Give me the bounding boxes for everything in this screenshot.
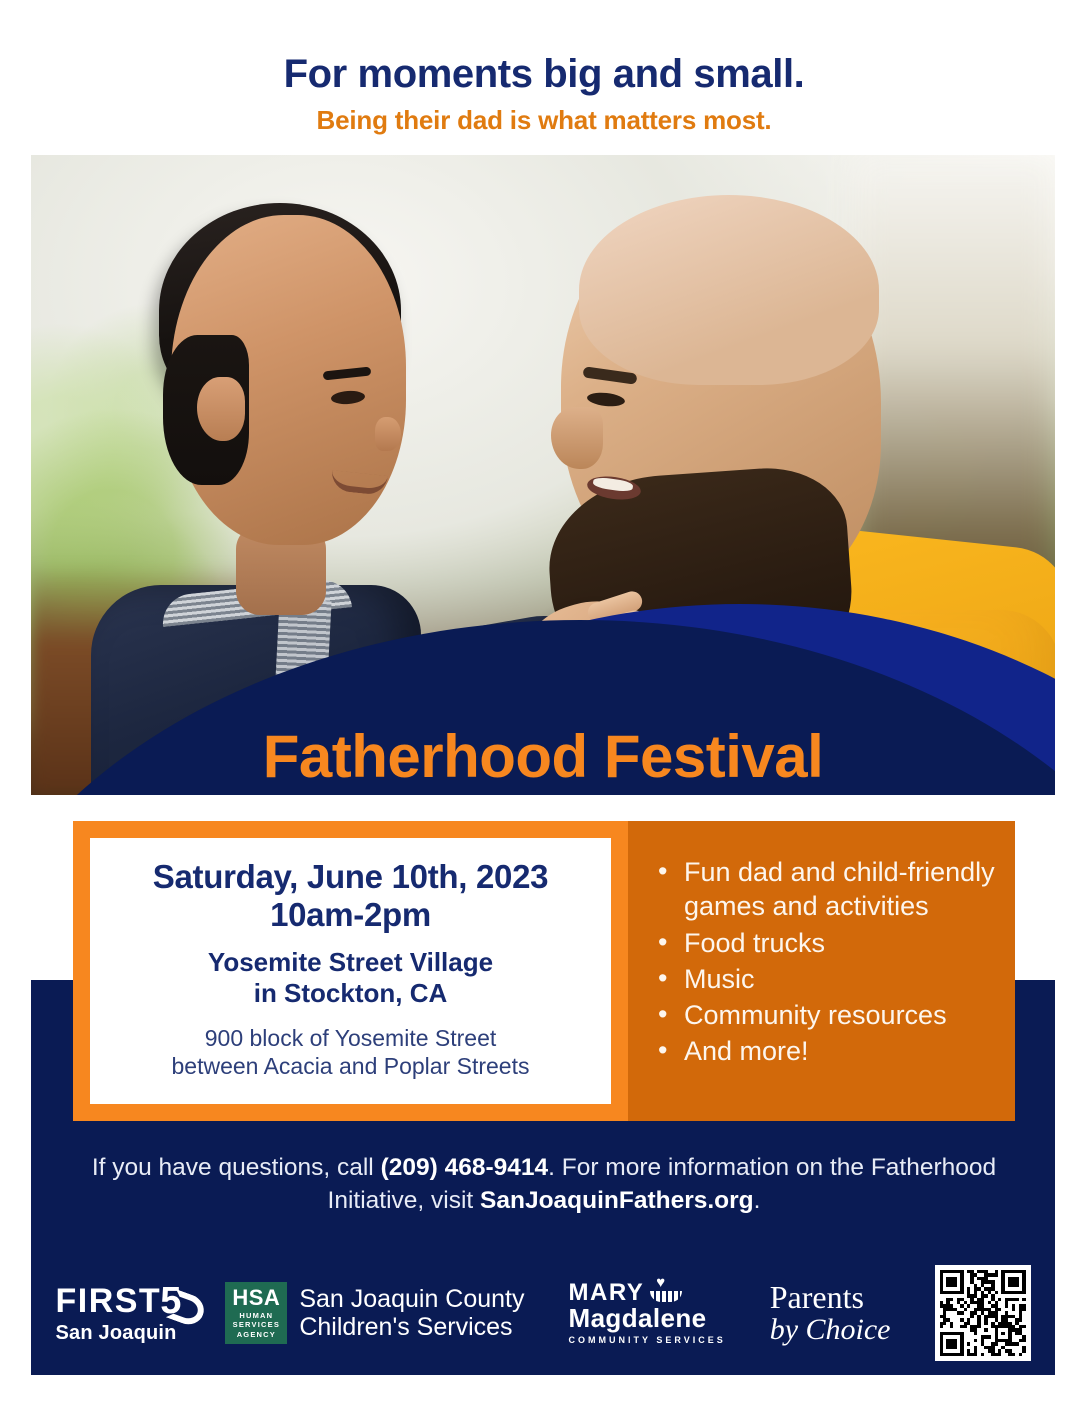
headline-block: For moments big and small. Being their d… — [0, 52, 1088, 135]
list-item: Food trucks — [654, 926, 997, 960]
features-card: Fun dad and child-friendly games and act… — [628, 821, 1015, 1121]
page-title: Fatherhood Festival — [31, 722, 1055, 791]
info-row: Saturday, June 10th, 2023 10am-2pm Yosem… — [73, 821, 1015, 1121]
event-time: 10am-2pm — [270, 896, 431, 934]
qr-code-grid — [940, 1270, 1026, 1356]
father-scalp — [579, 195, 879, 385]
heart-hand-icon — [650, 1283, 684, 1305]
hsa-abbr: HSA — [232, 1287, 280, 1309]
headline-secondary: Being their dad is what matters most. — [0, 106, 1088, 135]
hsa-text-line2: Children's Services — [299, 1313, 524, 1342]
contact-text: If you have questions, call (209) 468-94… — [90, 1152, 998, 1217]
list-item: Fun dad and child-friendly games and act… — [654, 855, 997, 924]
mary-word: MARY — [569, 1281, 645, 1305]
logo-row: FIRST 5 San Joaquin HSA HUMAN SERVICES A… — [31, 1258, 1055, 1368]
by-choice-word: by Choice — [770, 1314, 891, 1346]
headline-primary: For moments big and small. — [0, 52, 1088, 96]
list-item: And more! — [654, 1034, 997, 1068]
contact-website[interactable]: SanJoaquinFathers.org — [480, 1187, 754, 1214]
hsa-small-line2: SERVICES — [233, 1320, 280, 1329]
address-line-2: between Acacia and Poplar Streets — [171, 1052, 529, 1080]
list-item: Music — [654, 962, 997, 996]
hsa-small-line3: AGENCY — [233, 1330, 280, 1339]
hsa-mark-icon: HSA HUMAN SERVICES AGENCY — [225, 1282, 287, 1344]
hsa-text: San Joaquin County Children's Services — [299, 1285, 524, 1342]
boy-ear — [197, 377, 245, 441]
fatherhood-festival-flyer: For moments big and small. Being their d… — [0, 0, 1088, 1408]
first5-logo: FIRST 5 San Joaquin — [55, 1282, 181, 1345]
date-location-inner: Saturday, June 10th, 2023 10am-2pm Yosem… — [90, 838, 611, 1104]
qr-code-icon[interactable] — [935, 1265, 1031, 1361]
first5-word: FIRST — [55, 1284, 161, 1318]
hero-photo — [31, 155, 1055, 795]
contact-prefix: If you have questions, call — [92, 1154, 381, 1181]
hsa-text-line1: San Joaquin County — [299, 1285, 524, 1314]
venue-name: Yosemite Street Village — [208, 947, 493, 977]
magdalene-word: Magdalene — [569, 1305, 726, 1332]
first5-wordmark: FIRST 5 — [55, 1282, 181, 1320]
mary-magdalene-logo: MARY Magdalene COMMUNITY SERVICES — [569, 1281, 726, 1345]
date-location-card: Saturday, June 10th, 2023 10am-2pm Yosem… — [73, 821, 628, 1121]
parents-by-choice-logo: Parents by Choice — [770, 1281, 891, 1345]
contact-phone[interactable]: (209) 468-9414 — [381, 1154, 549, 1181]
address-line-1: 900 block of Yosemite Street — [205, 1024, 497, 1052]
hsa-small-line1: HUMAN — [233, 1311, 280, 1320]
hsa-logo: HSA HUMAN SERVICES AGENCY San Joaquin Co… — [225, 1282, 524, 1344]
hsa-fullname: HUMAN SERVICES AGENCY — [233, 1311, 280, 1339]
venue-city: in Stockton, CA — [254, 978, 448, 1008]
list-item: Community resources — [654, 998, 997, 1032]
boy-nose — [375, 417, 401, 451]
event-date: Saturday, June 10th, 2023 — [153, 858, 548, 896]
first5-subtitle: San Joaquin — [55, 1322, 176, 1345]
features-list: Fun dad and child-friendly games and act… — [654, 855, 997, 1069]
parents-word: Parents — [770, 1281, 891, 1314]
first5-numeral: 5 — [160, 1282, 181, 1320]
contact-suffix: . — [754, 1187, 761, 1214]
mary-magdalene-top: MARY — [569, 1281, 726, 1305]
mary-magdalene-subtitle: COMMUNITY SERVICES — [569, 1335, 726, 1345]
